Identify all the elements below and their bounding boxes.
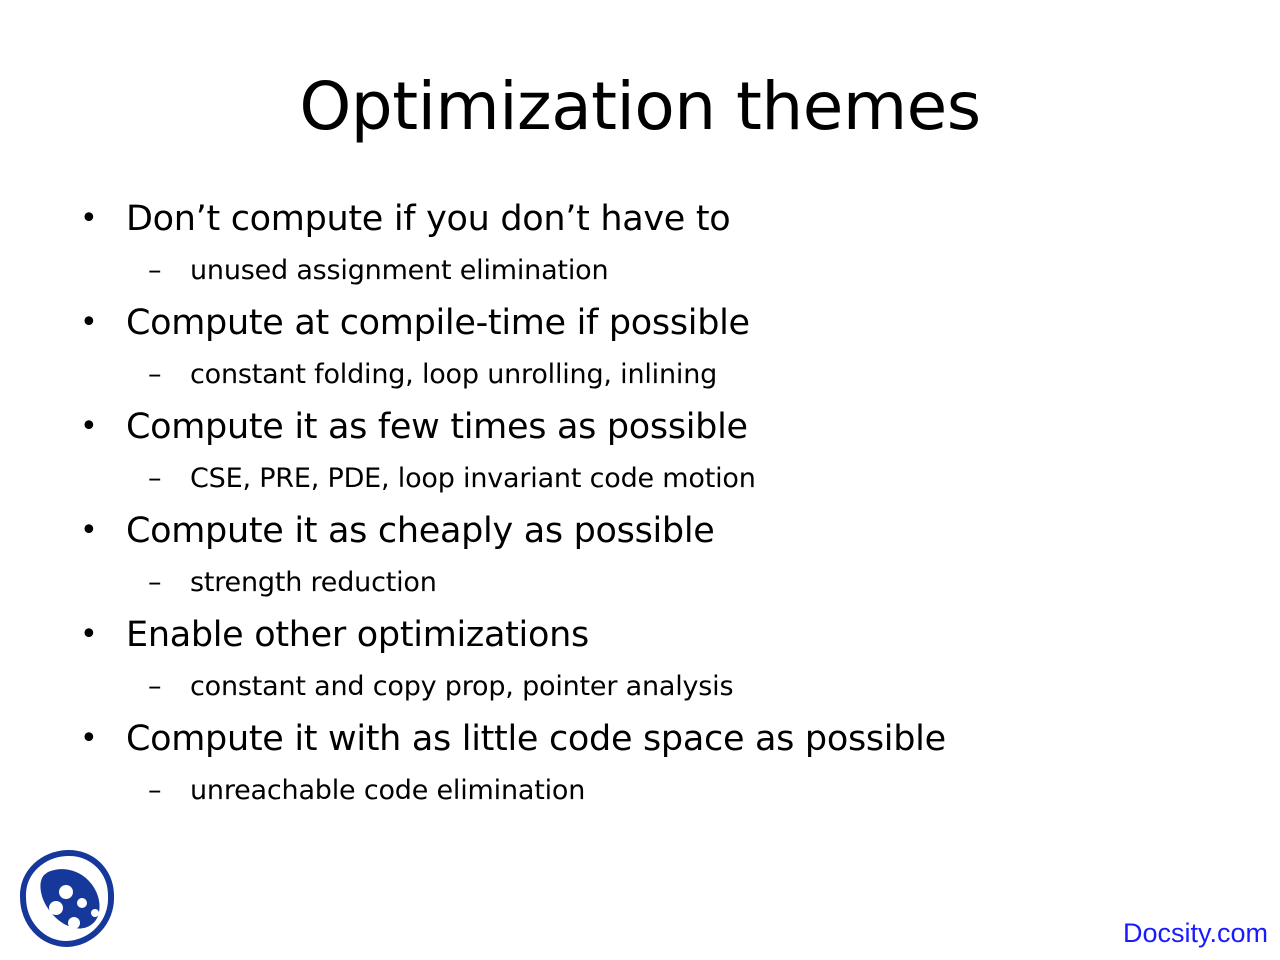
sub-bullet-item: – strength reduction — [70, 557, 1220, 609]
bullet-dot-icon: • — [80, 297, 100, 349]
bullet-group: • Compute it as few times as possible – … — [70, 401, 1220, 505]
main-bullet-label: Don’t compute if you don’t have to — [126, 199, 730, 239]
sub-bullet-item: – constant and copy prop, pointer analys… — [70, 661, 1220, 713]
bullet-dash-icon: – — [148, 765, 174, 817]
sub-bullet-label: unused assignment elimination — [190, 255, 608, 286]
sub-bullet-label: constant and copy prop, pointer analysis — [190, 671, 733, 702]
bullet-dot-icon: • — [80, 193, 100, 245]
sub-bullet-item: – unused assignment elimination — [70, 245, 1220, 297]
bullet-dash-icon: – — [148, 349, 174, 401]
main-bullet-item: • Compute it as few times as possible — [70, 401, 1220, 453]
main-bullet-label: Compute it as few times as possible — [126, 407, 748, 447]
bullet-group: • Compute it as cheaply as possible – st… — [70, 505, 1220, 609]
sub-bullet-label: strength reduction — [190, 567, 437, 598]
main-bullet-item: • Don’t compute if you don’t have to — [70, 193, 1220, 245]
bullet-dot-icon: • — [80, 505, 100, 557]
main-bullet-item: • Compute it as cheaply as possible — [70, 505, 1220, 557]
main-bullet-label: Enable other optimizations — [126, 615, 589, 655]
docsity-logo-icon — [18, 848, 116, 948]
bullet-dot-icon: • — [80, 401, 100, 453]
bullet-dash-icon: – — [148, 245, 174, 297]
main-bullet-item: • Enable other optimizations — [70, 609, 1220, 661]
bullet-list: • Don’t compute if you don’t have to – u… — [70, 193, 1220, 817]
sub-bullet-item: – CSE, PRE, PDE, loop invariant code mot… — [70, 453, 1220, 505]
sub-bullet-label: CSE, PRE, PDE, loop invariant code motio… — [190, 463, 756, 494]
bullet-dash-icon: – — [148, 661, 174, 713]
bullet-group: • Don’t compute if you don’t have to – u… — [70, 193, 1220, 297]
slide-canvas: Optimization themes • Don’t compute if y… — [0, 0, 1280, 960]
main-bullet-label: Compute it with as little code space as … — [126, 719, 946, 759]
bullet-dot-icon: • — [80, 609, 100, 661]
bullet-group: • Compute at compile-time if possible – … — [70, 297, 1220, 401]
main-bullet-item: • Compute it with as little code space a… — [70, 713, 1220, 765]
sub-bullet-label: constant folding, loop unrolling, inlini… — [190, 359, 717, 390]
page-title: Optimization themes — [0, 74, 1280, 140]
bullet-group: • Enable other optimizations – constant … — [70, 609, 1220, 713]
main-bullet-label: Compute at compile-time if possible — [126, 303, 750, 343]
bullet-dash-icon: – — [148, 453, 174, 505]
docsity-watermark: Docsity.com — [1123, 918, 1268, 949]
sub-bullet-label: unreachable code elimination — [190, 775, 585, 806]
main-bullet-label: Compute it as cheaply as possible — [126, 511, 715, 551]
main-bullet-item: • Compute at compile-time if possible — [70, 297, 1220, 349]
sub-bullet-item: – constant folding, loop unrolling, inli… — [70, 349, 1220, 401]
bullet-dot-icon: • — [80, 713, 100, 765]
sub-bullet-item: – unreachable code elimination — [70, 765, 1220, 817]
bullet-group: • Compute it with as little code space a… — [70, 713, 1220, 817]
bullet-dash-icon: – — [148, 557, 174, 609]
